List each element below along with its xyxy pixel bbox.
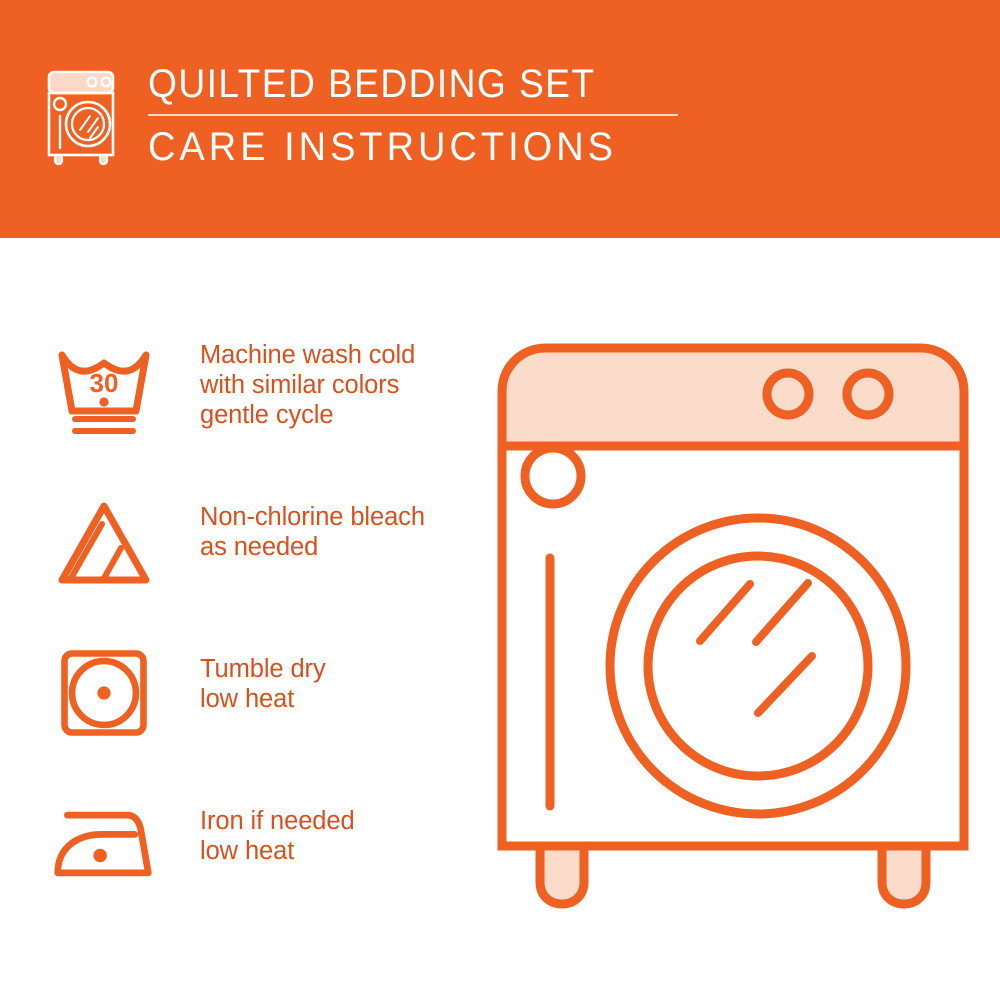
washing-machine-logo-icon: [46, 68, 124, 168]
care-item-label: Tumble dry low heat: [160, 638, 326, 714]
care-item-machine-wash: 30 Machine wash cold with similar colors…: [48, 338, 478, 488]
care-item-label: Machine wash cold with similar colors ge…: [160, 338, 415, 430]
content-area: 30 Machine wash cold with similar colors…: [0, 238, 1000, 1000]
machine-body: [502, 446, 964, 846]
machine-wash-30-symbol: 30: [48, 338, 160, 448]
care-item-tumble-dry: Tumble dry low heat: [48, 638, 478, 788]
front-load-washing-machine-illustration: [488, 326, 978, 926]
tumble-dry-low-heat-symbol: [48, 638, 160, 748]
title-divider: [148, 114, 678, 116]
page-subtitle: CARE INSTRUCTIONS: [148, 124, 652, 170]
leg-left: [540, 846, 584, 904]
header-content: QUILTED BEDDING SET CARE INSTRUCTIONS: [46, 62, 678, 170]
header-titles: QUILTED BEDDING SET CARE INSTRUCTIONS: [148, 62, 678, 170]
non-chlorine-bleach-triangle-symbol: [48, 488, 160, 598]
wash-temperature-value: 30: [90, 368, 119, 398]
page-title: QUILTED BEDDING SET: [148, 62, 641, 106]
care-item-bleach: Non-chlorine bleach as needed: [48, 488, 478, 638]
care-item-label: Iron if needed low heat: [160, 788, 355, 866]
header-banner: QUILTED BEDDING SET CARE INSTRUCTIONS: [0, 0, 1000, 238]
care-instruction-list: 30 Machine wash cold with similar colors…: [48, 338, 478, 938]
control-panel: [502, 348, 964, 446]
iron-low-heat-symbol: [48, 788, 160, 898]
care-item-iron: Iron if needed low heat: [48, 788, 478, 938]
leg-right: [882, 846, 926, 904]
care-item-label: Non-chlorine bleach as needed: [160, 488, 425, 562]
